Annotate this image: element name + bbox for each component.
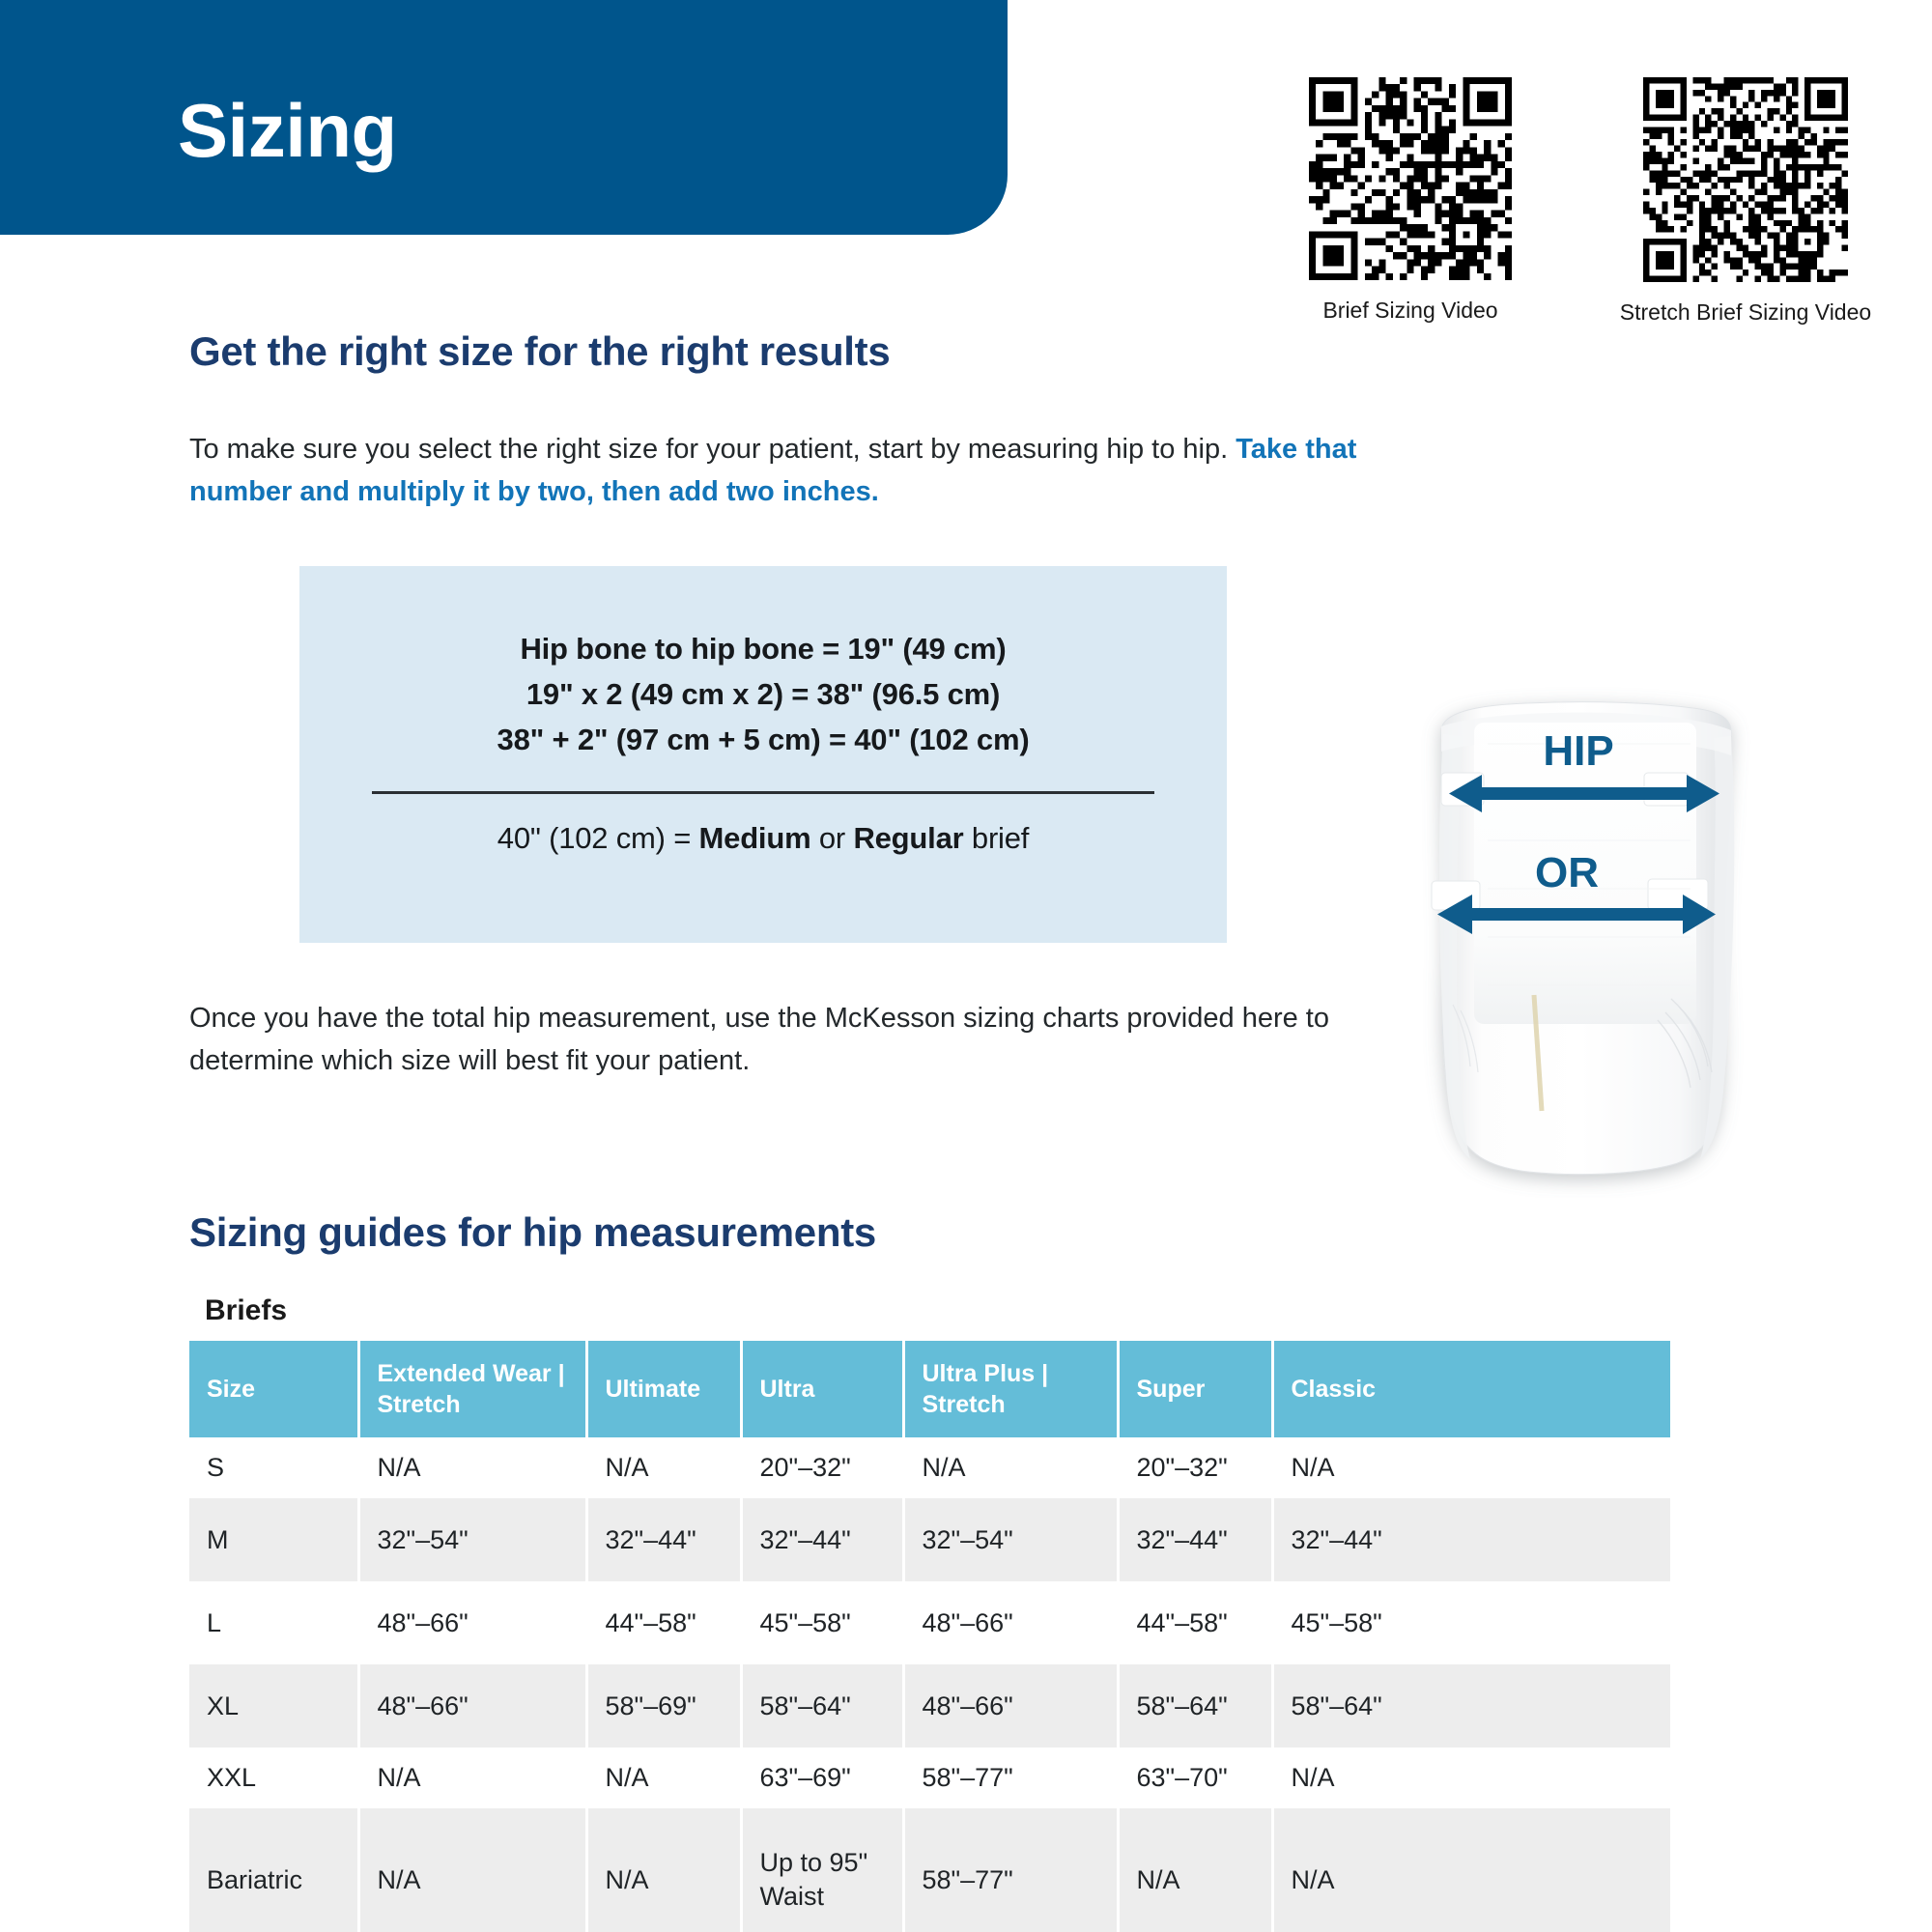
- qr-label-brief-sizing-video: Brief Sizing Video: [1285, 297, 1536, 326]
- product-brief-figure: HIP OR: [1381, 676, 1787, 1198]
- product-label-hip: HIP: [1543, 727, 1613, 775]
- calc-line-3: 38" + 2" (97 cm + 5 cm) = 40" (102 cm): [299, 717, 1227, 762]
- cell-size: XXL: [189, 1747, 358, 1808]
- cell-super: 20"–32": [1118, 1437, 1272, 1498]
- cell-classic: 58"–64": [1272, 1664, 1670, 1747]
- paragraph-outro: Once you have the total hip measurement,…: [189, 997, 1329, 1082]
- cell-super: 58"–64": [1118, 1664, 1272, 1747]
- calc-line-1: Hip bone to hip bone = 19" (49 cm): [299, 626, 1227, 671]
- cell-super: 44"–58": [1118, 1581, 1272, 1664]
- cell-ultimate: 58"–69": [586, 1664, 741, 1747]
- calc-divider: [372, 791, 1154, 794]
- cell-extended: N/A: [358, 1437, 586, 1498]
- heading-sizing-guides: Sizing guides for hip measurements: [189, 1209, 876, 1256]
- cell-classic: 45"–58": [1272, 1581, 1670, 1664]
- cell-ultra: 63"–69": [741, 1747, 903, 1808]
- cell-ultra: Up to 95" Waist: [741, 1808, 903, 1932]
- table-row: Bariatric N/A N/A Up to 95" Waist 58"–77…: [189, 1808, 1670, 1932]
- cell-extended: 48"–66": [358, 1664, 586, 1747]
- briefs-sizing-table: Size Extended Wear | Stretch Ultimate Ul…: [189, 1341, 1670, 1932]
- heading-get-right-size: Get the right size for the right results: [189, 328, 890, 375]
- table-row: M 32"–54" 32"–44" 32"–44" 32"–54" 32"–44…: [189, 1498, 1670, 1581]
- table-row: L 48"–66" 44"–58" 45"–58" 48"–66" 44"–58…: [189, 1581, 1670, 1664]
- paragraph-intro-plain: To make sure you select the right size f…: [189, 434, 1228, 465]
- qr-code-icon-brief-sizing-video[interactable]: [1309, 77, 1512, 280]
- column-header-ultimate: Ultimate: [586, 1341, 741, 1437]
- cell-ultimate: N/A: [586, 1808, 741, 1932]
- cell-super: N/A: [1118, 1808, 1272, 1932]
- column-header-classic: Classic: [1272, 1341, 1670, 1437]
- calc-line-2: 19" x 2 (49 cm x 2) = 38" (96.5 cm): [299, 671, 1227, 717]
- calc-result-line: 40" (102 cm) = Medium or Regular brief: [299, 821, 1227, 856]
- cell-extended: N/A: [358, 1747, 586, 1808]
- qr-block-brief-sizing-video[interactable]: Brief Sizing Video: [1285, 77, 1536, 326]
- cell-classic: N/A: [1272, 1437, 1670, 1498]
- cell-classic: N/A: [1272, 1747, 1670, 1808]
- cell-super: 32"–44": [1118, 1498, 1272, 1581]
- column-header-size: Size: [189, 1341, 358, 1437]
- qr-block-stretch-brief-sizing-video[interactable]: Stretch Brief Sizing Video: [1615, 77, 1876, 327]
- table-row: XL 48"–66" 58"–69" 58"–64" 48"–66" 58"–6…: [189, 1664, 1670, 1747]
- cell-ultra: 20"–32": [741, 1437, 903, 1498]
- cell-classic: N/A: [1272, 1808, 1670, 1932]
- cell-size: Bariatric: [189, 1808, 358, 1932]
- cell-size: XL: [189, 1664, 358, 1747]
- cell-ultimate: 44"–58": [586, 1581, 741, 1664]
- column-header-extended-wear-stretch: Extended Wear | Stretch: [358, 1341, 586, 1437]
- page-title: Sizing: [178, 93, 397, 168]
- table-caption-briefs: Briefs: [205, 1294, 287, 1327]
- calculation-example-box: Hip bone to hip bone = 19" (49 cm) 19" x…: [299, 566, 1227, 943]
- paragraph-intro: To make sure you select the right size f…: [189, 428, 1378, 513]
- table-row: S N/A N/A 20"–32" N/A 20"–32" N/A: [189, 1437, 1670, 1498]
- calc-result-prefix: 40" (102 cm) =: [497, 821, 699, 855]
- header-banner: Sizing: [0, 0, 1008, 235]
- calc-result-size-regular: Regular: [853, 821, 963, 855]
- cell-size: M: [189, 1498, 358, 1581]
- calc-result-conjunction: or: [810, 821, 853, 855]
- cell-ultra: 58"–64": [741, 1664, 903, 1747]
- cell-ultra: 45"–58": [741, 1581, 903, 1664]
- cell-ultimate: 32"–44": [586, 1498, 741, 1581]
- cell-ultimate: N/A: [586, 1437, 741, 1498]
- column-header-super: Super: [1118, 1341, 1272, 1437]
- table-header-row: Size Extended Wear | Stretch Ultimate Ul…: [189, 1341, 1670, 1437]
- sizing-document-page: Sizing Brief Sizing Video Stretch Brief …: [0, 0, 1932, 1932]
- product-label-or: OR: [1535, 849, 1599, 896]
- qr-label-stretch-brief-sizing-video: Stretch Brief Sizing Video: [1615, 298, 1876, 327]
- cell-extended: 32"–54": [358, 1498, 586, 1581]
- cell-ultraplus: N/A: [903, 1437, 1118, 1498]
- cell-ultraplus: 48"–66": [903, 1581, 1118, 1664]
- column-header-ultra-plus-stretch: Ultra Plus | Stretch: [903, 1341, 1118, 1437]
- calc-result-suffix: brief: [963, 821, 1029, 855]
- adult-brief-illustration-svg: HIP OR: [1381, 676, 1787, 1198]
- cell-size: L: [189, 1581, 358, 1664]
- cell-classic: 32"–44": [1272, 1498, 1670, 1581]
- cell-ultraplus: 58"–77": [903, 1808, 1118, 1932]
- cell-ultraplus: 58"–77": [903, 1747, 1118, 1808]
- cell-extended: 48"–66": [358, 1581, 586, 1664]
- cell-ultra: 32"–44": [741, 1498, 903, 1581]
- cell-ultraplus: 32"–54": [903, 1498, 1118, 1581]
- cell-ultraplus: 48"–66": [903, 1664, 1118, 1747]
- cell-size: S: [189, 1437, 358, 1498]
- qr-code-icon-stretch-brief-sizing-video[interactable]: [1643, 77, 1848, 282]
- cell-ultimate: N/A: [586, 1747, 741, 1808]
- cell-super: 63"–70": [1118, 1747, 1272, 1808]
- column-header-ultra: Ultra: [741, 1341, 903, 1437]
- table-row: XXL N/A N/A 63"–69" 58"–77" 63"–70" N/A: [189, 1747, 1670, 1808]
- cell-extended: N/A: [358, 1808, 586, 1932]
- calc-result-size-medium: Medium: [699, 821, 811, 855]
